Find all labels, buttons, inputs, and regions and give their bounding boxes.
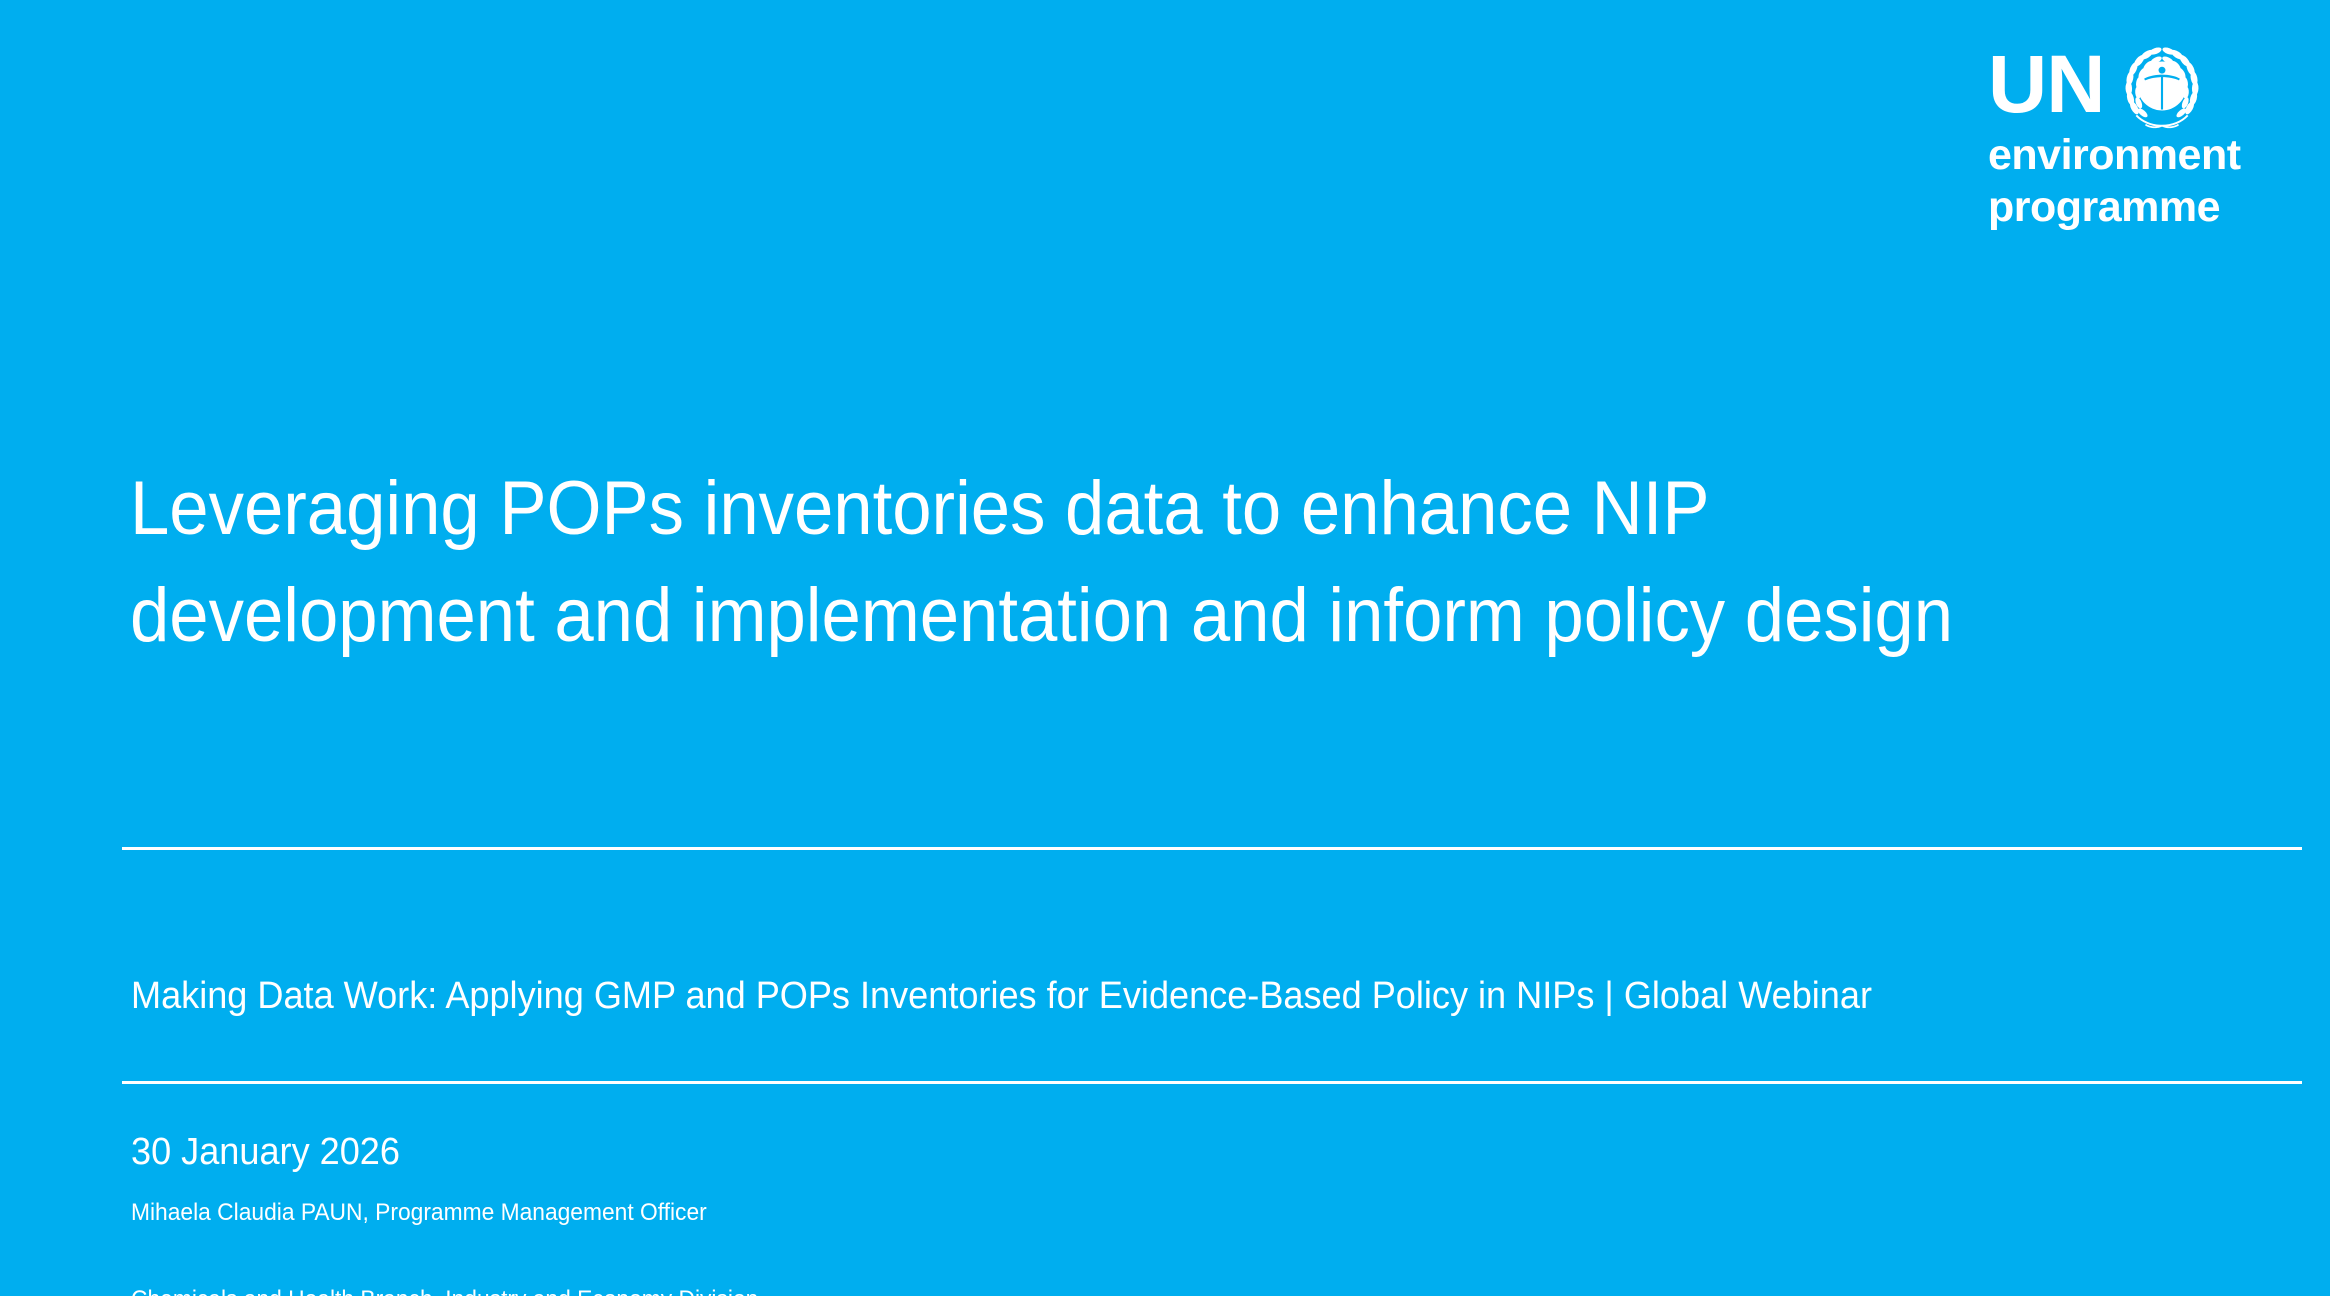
unep-emblem-icon [2114,38,2210,134]
un-wordmark: UN [1988,48,2104,122]
presenter-affiliation: Chemicals and Health Branch, Industry an… [131,1285,1461,1296]
page-title: Leveraging POPs inventories data to enha… [130,455,2055,669]
logo-programme-text: programme [1988,184,2288,230]
divider-bottom [122,1081,2302,1084]
presenter-block: Mihaela Claudia PAUN, Programme Manageme… [131,1140,1461,1296]
logo-top-row: UN [1988,48,2288,126]
title-slide: UN [0,0,2330,1296]
subtitle-event: Making Data Work: Applying GMP and POPs … [131,970,2193,1022]
unep-logo: UN [1988,48,2288,230]
presenter-name-title: Mihaela Claudia PAUN, Programme Manageme… [131,1198,1461,1227]
divider-top [122,847,2302,850]
logo-environment-text: environment [1988,132,2288,178]
